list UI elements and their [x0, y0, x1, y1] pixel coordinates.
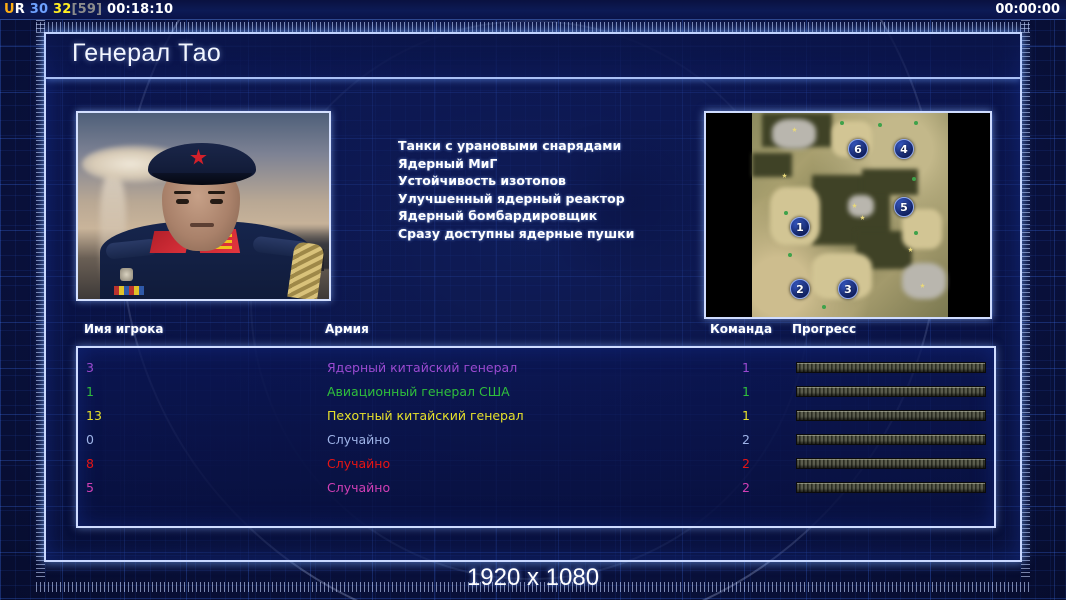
player-name: 0	[86, 428, 94, 452]
minimap-terrain	[862, 169, 918, 195]
hud-label-r: R	[15, 2, 25, 17]
column-header-name: Имя игрока	[84, 322, 164, 336]
minimap-start-position-3[interactable]: 3	[838, 279, 858, 299]
player-name: 8	[86, 452, 94, 476]
general-eye-left	[176, 199, 189, 204]
minimap-start-position-4[interactable]: 4	[894, 139, 914, 159]
column-header-progress: Прогресс	[792, 322, 856, 336]
hud-value-2: 32	[53, 2, 72, 17]
ability-item: Ядерный бомбардировщик	[398, 207, 718, 225]
ability-item: Улучшенный ядерный реактор	[398, 190, 718, 208]
column-header-team: Команда	[710, 322, 772, 336]
player-progress-bar	[796, 386, 986, 397]
player-army: Случайно	[327, 476, 390, 500]
minimap-rock	[902, 263, 946, 299]
minimap-image: 1 2 3 4 5 6	[752, 113, 948, 317]
hud-value-1: 30	[30, 2, 49, 17]
player-name: 5	[86, 476, 94, 500]
ability-item: Ядерный МиГ	[398, 155, 718, 173]
player-table-header: Имя игрока Армия Команда Прогресс	[46, 322, 1020, 344]
general-info-row: Танки с урановыми снарядами Ядерный МиГ …	[46, 79, 1020, 311]
general-brow-left	[174, 191, 191, 194]
page-title: Генерал Тао	[72, 39, 221, 68]
minimap-start-position-5[interactable]: 5	[894, 197, 914, 217]
top-hud-bar: UR 30 32[59] 00:18:10 00:00:00	[0, 0, 1066, 20]
player-team: 2	[742, 428, 750, 452]
player-army: Авиационный генерал США	[327, 380, 510, 404]
player-progress-bar	[796, 482, 986, 493]
minimap-terrain	[752, 153, 792, 177]
table-row[interactable]: 8Случайно2	[78, 452, 994, 476]
minimap-tree	[914, 231, 918, 235]
table-row[interactable]: 1Авиационный генерал США1	[78, 380, 994, 404]
hud-stats: UR 30 32[59] 00:18:10	[4, 0, 173, 20]
player-name: 13	[86, 404, 102, 428]
player-name: 3	[86, 356, 94, 380]
general-abilities-list: Танки с урановыми снарядами Ядерный МиГ …	[398, 137, 718, 242]
player-army: Ядерный китайский генерал	[327, 356, 517, 380]
player-team: 2	[742, 452, 750, 476]
resolution-label: 1920 x 1080	[0, 564, 1066, 592]
ability-item: Сразу доступны ядерные пушки	[398, 225, 718, 243]
general-portrait-image	[78, 113, 329, 299]
general-mouth	[190, 223, 214, 227]
general-portrait-frame	[76, 111, 331, 301]
minimap-tree	[784, 211, 788, 215]
minimap-tree	[788, 253, 792, 257]
minimap-start-position-6[interactable]: 6	[848, 139, 868, 159]
ability-item: Устойчивость изотопов	[398, 172, 718, 190]
player-progress-bar	[796, 434, 986, 445]
player-army: Случайно	[327, 452, 390, 476]
player-name: 1	[86, 380, 94, 404]
hud-label-u: U	[4, 2, 15, 17]
uniform-medal	[120, 268, 133, 281]
ruler-top	[36, 22, 1030, 32]
minimap-rock	[772, 119, 816, 149]
player-progress-bar	[796, 458, 986, 469]
minimap-tree	[914, 121, 918, 125]
general-brow-right	[208, 191, 225, 194]
minimap-frame[interactable]: 1 2 3 4 5 6	[704, 111, 992, 319]
player-team: 1	[742, 404, 750, 428]
minimap-tree	[840, 121, 844, 125]
player-team: 2	[742, 476, 750, 500]
minimap-tree	[878, 123, 882, 127]
hud-clock-right: 00:00:00	[995, 0, 1060, 20]
ruler-right	[1021, 20, 1030, 580]
hud-clock-left: 00:18:10	[107, 2, 173, 17]
table-row[interactable]: 0Случайно2	[78, 428, 994, 452]
player-army: Случайно	[327, 428, 390, 452]
hud-value-bracket: [59]	[71, 2, 102, 17]
main-panel: Генерал Тао	[44, 32, 1022, 562]
minimap-tree	[912, 177, 916, 181]
player-team: 1	[742, 380, 750, 404]
minimap-start-position-2[interactable]: 2	[790, 279, 810, 299]
table-row[interactable]: 5Случайно2	[78, 476, 994, 500]
player-army: Пехотный китайский генерал	[327, 404, 524, 428]
minimap-start-position-1[interactable]: 1	[790, 217, 810, 237]
player-team: 1	[742, 356, 750, 380]
player-list: 3Ядерный китайский генерал11Авиационный …	[76, 346, 996, 528]
ability-item: Танки с урановыми снарядами	[398, 137, 718, 155]
table-row[interactable]: 13Пехотный китайский генерал1	[78, 404, 994, 428]
minimap-tree	[822, 305, 826, 309]
player-progress-bar	[796, 410, 986, 421]
minimap-rock	[848, 195, 874, 217]
player-progress-bar	[796, 362, 986, 373]
table-row[interactable]: 3Ядерный китайский генерал1	[78, 356, 994, 380]
general-eye-right	[210, 199, 223, 204]
column-header-army: Армия	[325, 322, 369, 336]
uniform-ribbon	[114, 286, 144, 295]
minimap-sand	[770, 187, 820, 245]
panel-titlebar: Генерал Тао	[46, 34, 1020, 79]
